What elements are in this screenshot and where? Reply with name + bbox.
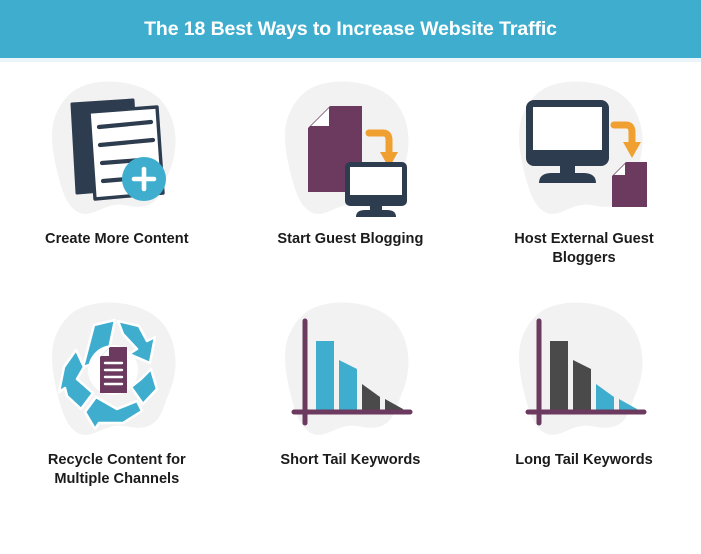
- header-bar: The 18 Best Ways to Increase Website Tra…: [0, 0, 701, 58]
- item-host-external-guest-bloggers[interactable]: Host External Guest Bloggers: [467, 76, 701, 269]
- long-tail-chart-icon: [504, 297, 664, 447]
- document-to-monitor-art: [270, 76, 430, 226]
- item-start-guest-blogging[interactable]: Start Guest Blogging: [234, 76, 468, 269]
- page-title: The 18 Best Ways to Increase Website Tra…: [144, 18, 557, 41]
- items-row-1: Create More Content: [0, 62, 701, 269]
- short-tail-chart-art: [270, 297, 430, 447]
- item-label: Recycle Content for Multiple Channels: [12, 451, 222, 490]
- long-tail-chart-art: [504, 297, 664, 447]
- items-row-2: Recycle Content for Multiple Channels: [0, 269, 701, 490]
- item-label: Long Tail Keywords: [479, 451, 689, 470]
- item-label: Host External Guest Bloggers: [479, 230, 689, 269]
- item-long-tail-keywords[interactable]: Long Tail Keywords: [467, 283, 701, 490]
- documents-plus-art: [37, 76, 197, 226]
- item-short-tail-keywords[interactable]: Short Tail Keywords: [234, 283, 468, 490]
- item-create-more-content[interactable]: Create More Content: [0, 76, 234, 269]
- infographic-page: The 18 Best Ways to Increase Website Tra…: [0, 0, 701, 554]
- documents-plus-icon: [37, 76, 197, 226]
- short-tail-chart-icon: [270, 297, 430, 447]
- item-recycle-content[interactable]: Recycle Content for Multiple Channels: [0, 283, 234, 490]
- item-label: Start Guest Blogging: [245, 230, 455, 249]
- document-to-monitor-icon: [270, 76, 430, 226]
- item-label: Short Tail Keywords: [245, 451, 455, 470]
- monitor-to-document-icon: [504, 76, 664, 226]
- monitor-to-document-art: [504, 76, 664, 226]
- recycle-document-art: [37, 297, 197, 447]
- item-label: Create More Content: [12, 230, 222, 249]
- recycle-document-icon: [37, 297, 197, 447]
